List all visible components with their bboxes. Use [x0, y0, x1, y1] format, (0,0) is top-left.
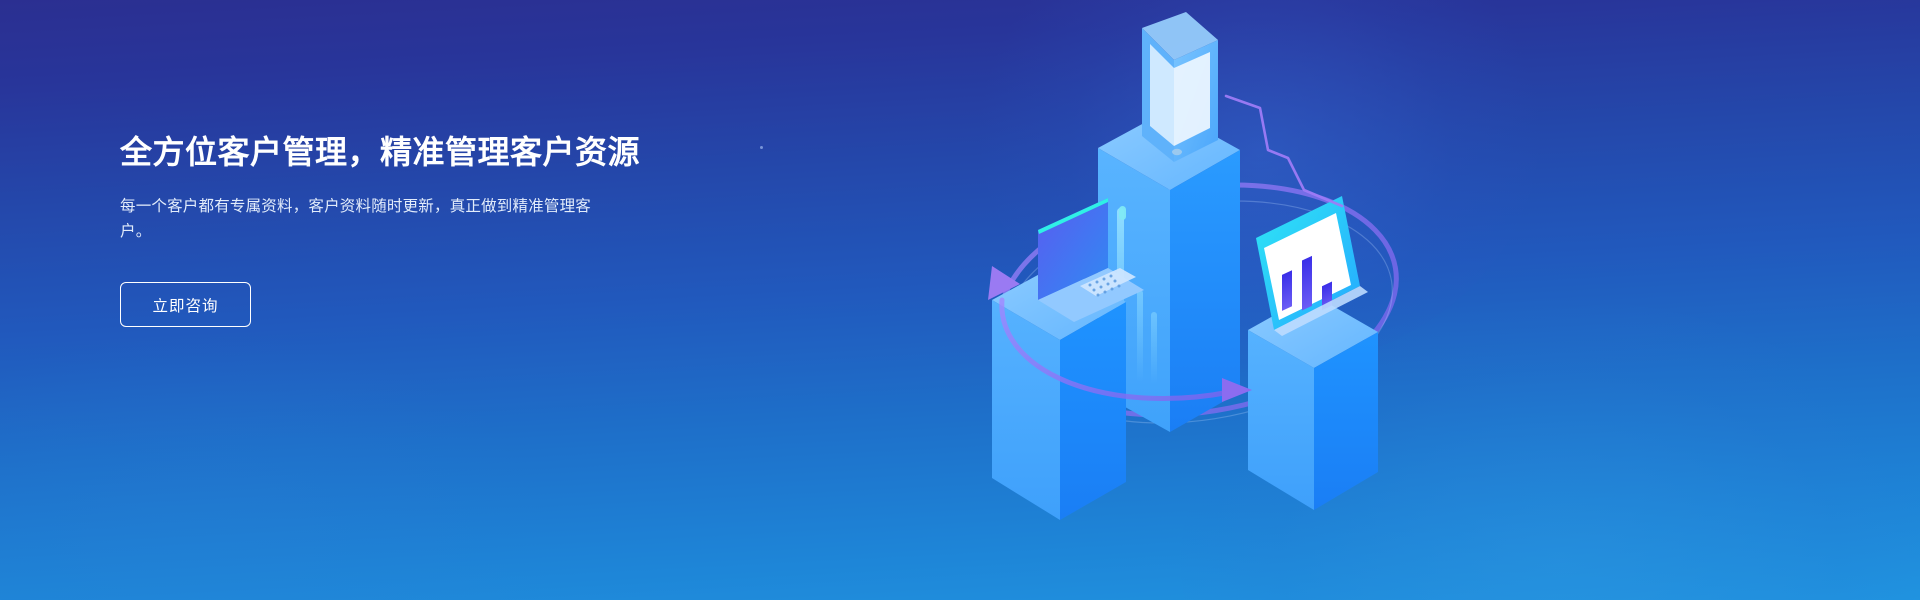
hero-headline: 全方位客户管理，精准管理客户资源: [120, 132, 760, 172]
background-speck: [760, 146, 763, 149]
device-monitor: [1256, 196, 1368, 336]
hero-banner: 全方位客户管理，精准管理客户资源 每一个客户都有专属资料，客户资料随时更新，真正…: [0, 0, 1920, 600]
background-glow-left: [0, 330, 560, 600]
consult-now-button[interactable]: 立即咨询: [120, 282, 251, 327]
hero-illustration: [930, 0, 1460, 600]
pedestal-right: [1248, 294, 1378, 510]
device-tablet: [1142, 12, 1218, 162]
hero-copy-block: 全方位客户管理，精准管理客户资源 每一个客户都有专属资料，客户资料随时更新，真正…: [120, 132, 760, 327]
hero-subcopy: 每一个客户都有专属资料，客户资料随时更新，真正做到精准管理客户。: [120, 194, 600, 244]
